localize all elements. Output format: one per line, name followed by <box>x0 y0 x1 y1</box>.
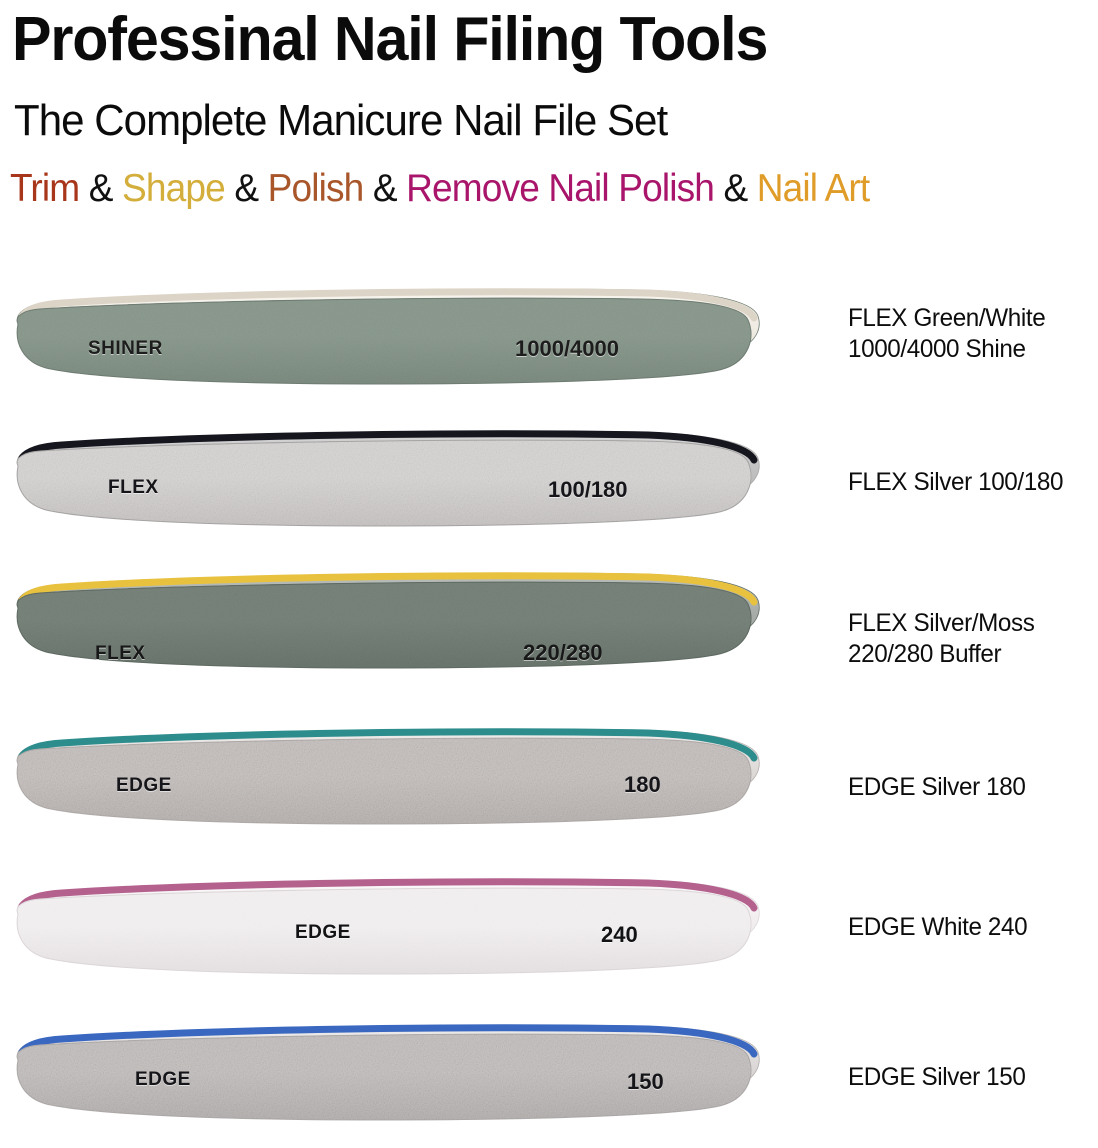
file-brand-text: FLEX <box>108 477 159 499</box>
tagline-segment-0: Trim <box>10 167 79 210</box>
nail-file-illustration: FLEX220/280 <box>0 556 812 691</box>
file-grit-text: 100/180 <box>548 477 628 503</box>
file-caption: EDGE Silver 180 <box>848 772 1025 803</box>
nail-file-illustration: SHINER1000/4000 <box>0 272 812 407</box>
tagline-segment-5: & <box>363 167 406 210</box>
tagline-segment-8: Nail Art <box>757 167 870 210</box>
file-brand-text: FLEX <box>95 643 146 665</box>
tagline-segment-2: Shape <box>122 167 225 210</box>
file-brand-text: EDGE <box>116 775 172 797</box>
tagline-segment-6: Remove Nail Polish <box>406 167 714 210</box>
file-grit-text: 220/280 <box>523 640 603 666</box>
nail-file-illustration: EDGE180 <box>0 712 812 847</box>
file-brand-text: EDGE <box>135 1069 191 1091</box>
file-grit-text: 240 <box>601 922 638 948</box>
file-caption: FLEX Green/White 1000/4000 Shine <box>848 303 1045 365</box>
page-title: Professinal Nail Filing Tools <box>12 6 767 74</box>
nail-file-illustration: FLEX100/180 <box>0 414 812 549</box>
file-grit-text: 1000/4000 <box>515 336 619 362</box>
file-caption: EDGE White 240 <box>848 912 1027 943</box>
nail-file-illustration: EDGE240 <box>0 862 812 997</box>
nail-file-illustration: EDGE150 <box>0 1008 812 1143</box>
page-subtitle: The Complete Manicure Nail File Set <box>14 96 667 146</box>
file-grit-text: 150 <box>627 1069 664 1095</box>
tagline-segment-4: Polish <box>268 167 364 210</box>
feature-tagline: Trim & Shape & Polish & Remove Nail Poli… <box>10 166 869 212</box>
tagline-segment-1: & <box>79 167 122 210</box>
file-brand-text: EDGE <box>295 922 351 944</box>
tagline-segment-3: & <box>225 167 268 210</box>
file-grit-text: 180 <box>624 772 661 798</box>
tagline-segment-7: & <box>714 167 757 210</box>
file-caption: EDGE Silver 150 <box>848 1062 1025 1093</box>
file-caption: FLEX Silver 100/180 <box>848 467 1063 498</box>
file-caption: FLEX Silver/Moss 220/280 Buffer <box>848 608 1034 670</box>
file-brand-text: SHINER <box>88 338 163 360</box>
